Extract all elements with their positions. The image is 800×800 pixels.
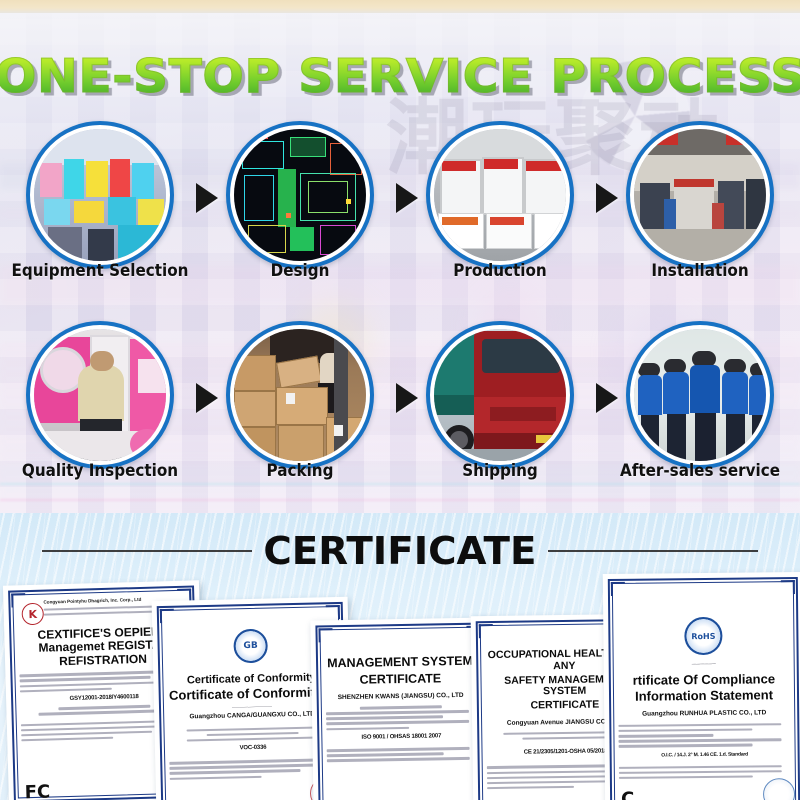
top-accent-strip bbox=[0, 0, 800, 13]
cert-title-line-2: Information Statement bbox=[618, 688, 790, 704]
cert-title-line-2: CERTIFICATE bbox=[325, 671, 475, 688]
ce-mark-icon: C bbox=[621, 789, 634, 800]
cert-title-line-1: rtificate Of Compliance bbox=[618, 672, 790, 688]
one-stop-service-process-section: 潮玩聚动 ONE-STOP SERVICE PROCESS bbox=[0, 13, 800, 513]
certificate-section: CERTIFICATE K Congyuan Pointyhu Dhagrich… bbox=[0, 513, 800, 800]
certificate-card[interactable]: MANAGEMENT SYSTEM CERTIFICATE SHENZHEN K… bbox=[310, 617, 491, 800]
step-image-circle bbox=[226, 321, 374, 469]
step-photo-quality-inspection bbox=[34, 329, 166, 461]
step-photo-packing bbox=[234, 329, 366, 461]
page-root: 潮玩聚动 ONE-STOP SERVICE PROCESS bbox=[0, 0, 800, 800]
step-label: Quality Inspection bbox=[8, 461, 192, 480]
rohs-seal-icon: RoHS bbox=[684, 617, 722, 655]
step-label: Equipment Selection bbox=[8, 261, 192, 280]
fcc-mark-icon: FC bbox=[24, 782, 50, 800]
step-photo-after-sales-service bbox=[634, 329, 766, 461]
cert-org: Guangzhou RUNHUA PLASTIC CO., LTD bbox=[618, 709, 790, 719]
cert-subtext: —————— bbox=[618, 660, 790, 667]
certificate-gallery: K Congyuan Pointyhu Dhagrich, Inc. Corp.… bbox=[0, 573, 800, 800]
step-label: Installation bbox=[608, 261, 792, 280]
cert-paragraph-lines bbox=[619, 765, 791, 779]
process-step-shipping[interactable]: Shipping bbox=[400, 321, 600, 496]
step-label: Production bbox=[408, 261, 592, 280]
k-seal-icon: K bbox=[21, 603, 44, 626]
step-photo-design bbox=[234, 129, 366, 261]
step-image-circle bbox=[626, 121, 774, 269]
certificate-card[interactable]: RoHS —————— rtificate Of Compliance Info… bbox=[603, 572, 800, 800]
gb-seal-icon: GB bbox=[233, 629, 268, 664]
step-image-circle bbox=[26, 321, 174, 469]
step-label: Shipping bbox=[408, 461, 592, 480]
step-photo-installation bbox=[634, 129, 766, 261]
certificate-heading: CERTIFICATE bbox=[263, 529, 536, 573]
cert-code: ISO 9001 / OHSAS 18001 2007 bbox=[326, 733, 476, 742]
page-title: ONE-STOP SERVICE PROCESS bbox=[0, 49, 800, 103]
step-image-circle bbox=[426, 121, 574, 269]
process-step-design[interactable]: Design bbox=[200, 121, 400, 296]
cert-org: SHENZHEN KWANS (JIANGSU) CO., LTD bbox=[326, 692, 476, 703]
process-step-quality-inspection[interactable]: Quality Inspection bbox=[0, 321, 200, 496]
process-step-installation[interactable]: Installation bbox=[600, 121, 800, 296]
process-row-1: Equipment Selection bbox=[0, 121, 800, 296]
process-step-after-sales-service[interactable]: After-sales service bbox=[600, 321, 800, 496]
cert-body: RoHS —————— rtificate Of Compliance Info… bbox=[617, 586, 791, 800]
certificate-heading-row: CERTIFICATE bbox=[0, 529, 800, 573]
process-row-2: Quality Inspection bbox=[0, 321, 800, 496]
step-label: Packing bbox=[208, 461, 392, 480]
process-step-packing[interactable]: Packing bbox=[200, 321, 400, 496]
divider-line-left bbox=[42, 550, 252, 552]
cert-code: O.I.C. / 14.J. 2° M. 1.46 CE. 1.d. Stand… bbox=[619, 751, 791, 759]
process-step-production[interactable]: Production bbox=[400, 121, 600, 296]
cert-detail-lines bbox=[618, 723, 790, 748]
divider-line-right bbox=[548, 550, 758, 552]
step-image-circle bbox=[426, 321, 574, 469]
step-label: Design bbox=[208, 261, 392, 280]
step-photo-equipment-selection bbox=[34, 129, 166, 261]
step-label: After-sales service bbox=[608, 461, 792, 480]
step-image-circle bbox=[26, 121, 174, 269]
step-image-circle bbox=[626, 321, 774, 469]
process-title-wrap: ONE-STOP SERVICE PROCESS bbox=[0, 18, 800, 134]
step-photo-production bbox=[434, 129, 566, 261]
step-image-circle bbox=[226, 121, 374, 269]
cert-detail-lines bbox=[326, 705, 476, 730]
cert-paragraph-lines bbox=[327, 747, 477, 762]
process-step-equipment-selection[interactable]: Equipment Selection bbox=[0, 121, 200, 296]
cert-title-line-1: MANAGEMENT SYSTEM bbox=[325, 654, 475, 671]
cert-body: MANAGEMENT SYSTEM CERTIFICATE SHENZHEN K… bbox=[325, 632, 478, 800]
step-photo-shipping bbox=[434, 329, 566, 461]
